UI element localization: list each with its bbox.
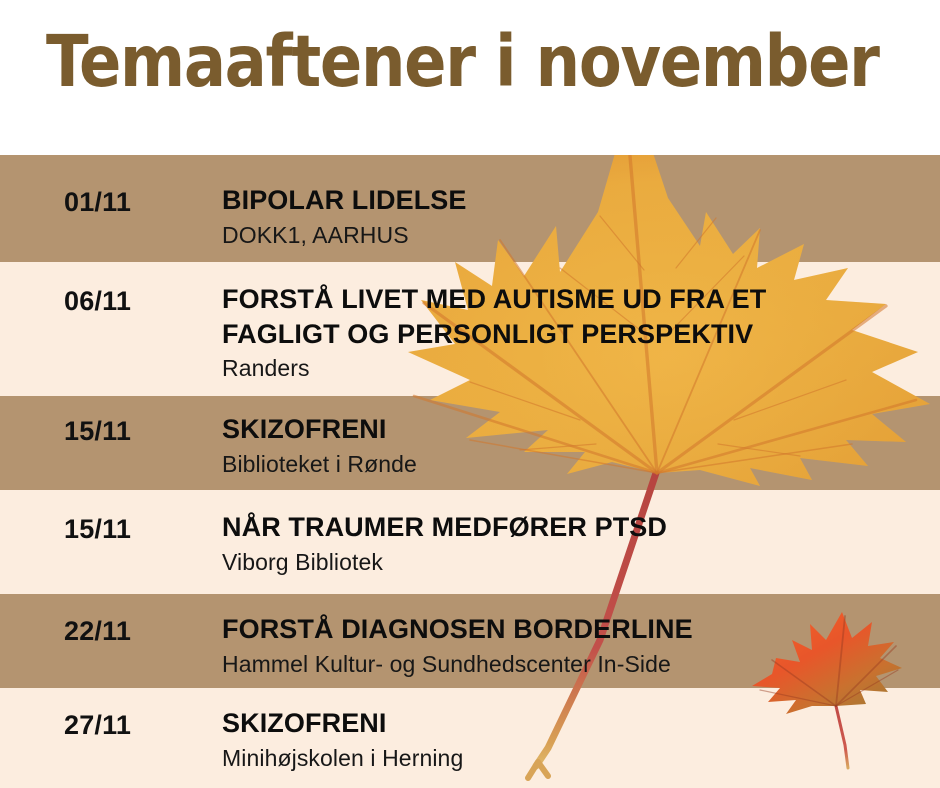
event-body: FORSTÅ DIAGNOSEN BORDERLINE Hammel Kultu…	[222, 612, 922, 679]
event-venue: Hammel Kultur- og Sundhedscenter In-Side	[222, 650, 922, 680]
event-venue: Biblioteket i Rønde	[222, 450, 922, 480]
event-title: FORSTÅ LIVET MED AUTISME UD FRA ET FAGLI…	[222, 282, 922, 351]
list-item: 06/11 FORSTÅ LIVET MED AUTISME UD FRA ET…	[0, 262, 940, 396]
poster-header: Temaaftener i november	[0, 0, 940, 155]
event-body: NÅR TRAUMER MEDFØRER PTSD Viborg Bibliot…	[222, 510, 922, 577]
event-body: SKIZOFRENI Minihøjskolen i Herning	[222, 706, 922, 773]
event-date: 27/11	[64, 710, 131, 741]
event-venue: DOKK1, AARHUS	[222, 221, 922, 251]
event-body: FORSTÅ LIVET MED AUTISME UD FRA ET FAGLI…	[222, 282, 922, 384]
page-title: Temaaftener i november	[46, 23, 879, 101]
event-venue: Minihøjskolen i Herning	[222, 744, 922, 774]
event-date: 22/11	[64, 616, 131, 647]
list-item: 01/11 BIPOLAR LIDELSE DOKK1, AARHUS	[0, 155, 940, 262]
event-date: 15/11	[64, 416, 131, 447]
event-venue: Randers	[222, 354, 922, 384]
event-title: SKIZOFRENI	[222, 412, 922, 447]
list-item: 27/11 SKIZOFRENI Minihøjskolen i Herning	[0, 688, 940, 788]
event-date: 15/11	[64, 514, 131, 545]
event-title: SKIZOFRENI	[222, 706, 922, 741]
event-title: NÅR TRAUMER MEDFØRER PTSD	[222, 510, 922, 545]
event-body: BIPOLAR LIDELSE DOKK1, AARHUS	[222, 183, 922, 250]
poster-canvas: Temaaftener i november 01/11 BIPOLAR LID…	[0, 0, 940, 788]
event-date: 01/11	[64, 187, 131, 218]
event-date: 06/11	[64, 286, 131, 317]
event-title: FORSTÅ DIAGNOSEN BORDERLINE	[222, 612, 922, 647]
list-item: 22/11 FORSTÅ DIAGNOSEN BORDERLINE Hammel…	[0, 594, 940, 688]
list-item: 15/11 NÅR TRAUMER MEDFØRER PTSD Viborg B…	[0, 490, 940, 594]
event-body: SKIZOFRENI Biblioteket i Rønde	[222, 412, 922, 479]
list-item: 15/11 SKIZOFRENI Biblioteket i Rønde	[0, 396, 940, 490]
event-title: BIPOLAR LIDELSE	[222, 183, 922, 218]
event-venue: Viborg Bibliotek	[222, 548, 922, 578]
